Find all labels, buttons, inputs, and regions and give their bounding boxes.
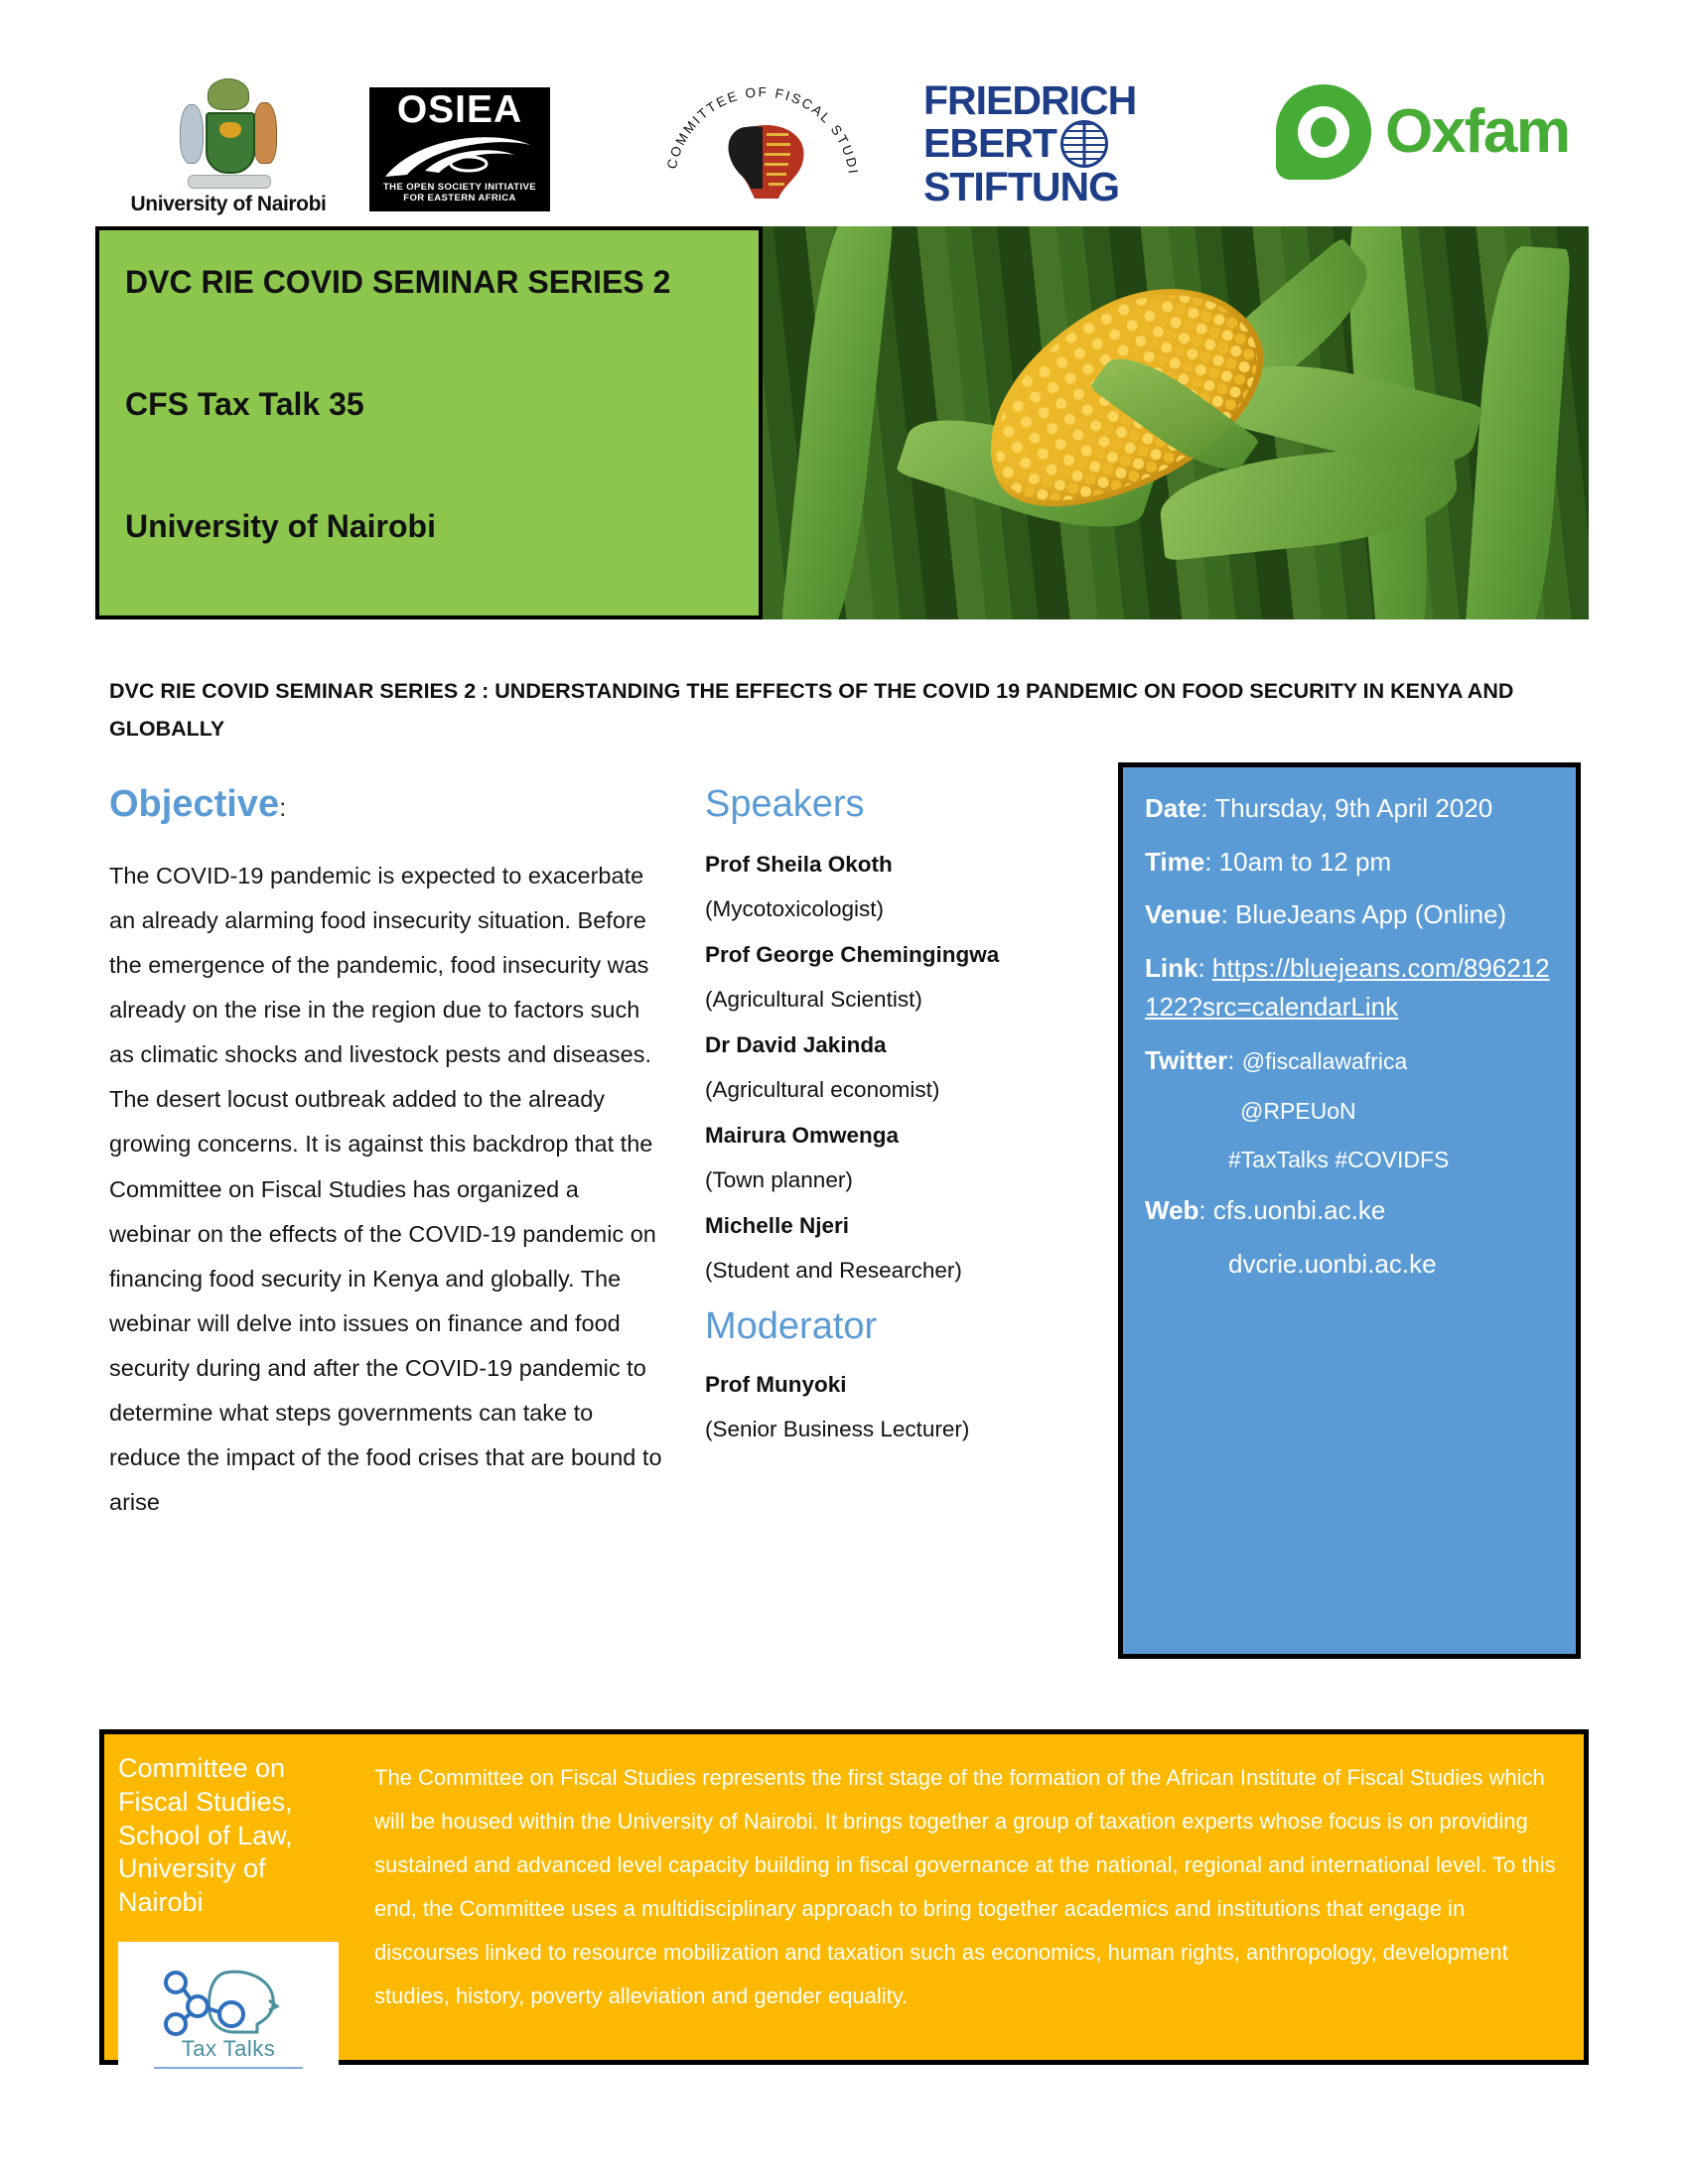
moderator-role: (Senior Business Lecturer)	[705, 1419, 1072, 1441]
fes-line-2: EBERT	[923, 124, 1056, 163]
oxfam-mark-icon	[1276, 84, 1371, 180]
event-twitter: Twitter: @fiscallawafrica	[1145, 1041, 1554, 1081]
speaker-role: (Town planner)	[705, 1169, 1072, 1192]
event-twitter-label: Twitter	[1145, 1045, 1227, 1075]
speaker-role: (Agricultural Scientist)	[705, 989, 1072, 1012]
speaker-role: (Agricultural economist)	[705, 1079, 1072, 1102]
seminar-subtitle: DVC RIE COVID SEMINAR SERIES 2 : UNDERST…	[109, 673, 1579, 748]
speaker-role: (Mycotoxicologist)	[705, 898, 1072, 921]
objective-column: Objective: The COVID-19 pandemic is expe…	[109, 784, 665, 1525]
fes-globe-icon	[1060, 120, 1108, 168]
event-web-label: Web	[1145, 1195, 1198, 1225]
hero-title-line-1: DVC RIE COVID SEMINAR SERIES 2	[125, 264, 759, 301]
committee-of-fiscal-studies-logo: COMMITTEE OF FISCAL STUDIES	[655, 71, 869, 201]
event-time-value: : 10am to 12 pm	[1204, 847, 1391, 877]
event-time-label: Time	[1145, 847, 1204, 877]
speaker-name: Prof Sheila Okoth	[705, 854, 1072, 877]
speaker-item: Dr David Jakinda (Agricultural economist…	[705, 1034, 1072, 1102]
footer-left: Committee on Fiscal Studies, School of L…	[104, 1734, 352, 2060]
osiea-acronym: OSIEA	[369, 87, 550, 129]
cfs-roundel-icon: COMMITTEE OF FISCAL STUDIES	[655, 71, 869, 201]
university-of-nairobi-logo: University of Nairobi	[109, 74, 348, 216]
speaker-item: Michelle Njeri (Student and Researcher)	[705, 1215, 1072, 1283]
uon-logo-label: University of Nairobi	[109, 193, 348, 216]
tax-talks-head-icon	[154, 1963, 303, 2038]
friedrich-ebert-stiftung-logo: FRIEDRICH EBERT STIFTUNG	[923, 81, 1221, 196]
tax-talks-logo: Tax Talks	[118, 1942, 339, 2091]
speakers-heading: Speakers	[705, 784, 1072, 826]
event-time: Time: 10am to 12 pm	[1145, 843, 1554, 883]
hero-title-box: DVC RIE COVID SEMINAR SERIES 2 CFS Tax T…	[95, 226, 763, 619]
event-date: Date: Thursday, 9th April 2020	[1145, 789, 1554, 829]
footer-org-title: Committee on Fiscal Studies, School of L…	[118, 1752, 352, 1920]
fes-line-3: STIFTUNG	[923, 168, 1221, 206]
objective-body: The COVID-19 pandemic is expected to exa…	[109, 854, 665, 1526]
moderator-name: Prof Munyoki	[705, 1374, 1072, 1397]
footer-about-box: Committee on Fiscal Studies, School of L…	[99, 1729, 1589, 2065]
hero-title-line-3: University of Nairobi	[125, 508, 759, 545]
event-web-value-2[interactable]: dvcrie.uonbi.ac.ke	[1145, 1245, 1554, 1285]
objective-heading-colon: :	[279, 792, 286, 822]
logo-strip: University of Nairobi OSIEA THE OPEN SOC…	[0, 0, 1688, 228]
oxfam-wordmark: Oxfam	[1385, 101, 1569, 163]
osiea-subtitle-line2: FOR EASTERN AFRICA	[369, 194, 550, 205]
uon-crest-icon	[174, 74, 283, 189]
osiea-logo: OSIEA THE OPEN SOCIETY INITIATIVE FOR EA…	[369, 87, 550, 211]
footer-description: The Committee on Fiscal Studies represen…	[352, 1734, 1584, 2060]
speaker-name: Mairura Omwenga	[705, 1125, 1072, 1148]
event-venue: Venue: BlueJeans App (Online)	[1145, 895, 1554, 935]
event-hashtags: #TaxTalks #COVIDFS	[1145, 1143, 1554, 1177]
moderator-item: Prof Munyoki (Senior Business Lecturer)	[705, 1374, 1072, 1441]
hero-banner: DVC RIE COVID SEMINAR SERIES 2 CFS Tax T…	[95, 226, 1589, 619]
tax-talks-rule	[154, 2067, 303, 2069]
twitter-handle-secondary[interactable]: @RPEUoN	[1145, 1094, 1554, 1129]
event-link-url[interactable]: https://bluejeans.com/896212122?src=cale…	[1145, 953, 1550, 1023]
hero-title-line-2: CFS Tax Talk 35	[125, 386, 759, 423]
speaker-name: Michelle Njeri	[705, 1215, 1072, 1238]
poster-page: University of Nairobi OSIEA THE OPEN SOC…	[0, 0, 1688, 2184]
speaker-item: Prof Sheila Okoth (Mycotoxicologist)	[705, 854, 1072, 921]
oxfam-logo: Oxfam	[1276, 74, 1604, 189]
osiea-swoosh-icon	[369, 131, 550, 183]
event-web-value-1[interactable]: cfs.uonbi.ac.ke	[1213, 1195, 1385, 1225]
event-link-label: Link	[1145, 953, 1197, 983]
speakers-column: Speakers Prof Sheila Okoth (Mycotoxicolo…	[705, 784, 1072, 1464]
event-details-box: Date: Thursday, 9th April 2020 Time: 10a…	[1118, 762, 1581, 1659]
event-date-value: : Thursday, 9th April 2020	[1200, 793, 1492, 823]
event-date-label: Date	[1145, 793, 1200, 823]
event-web: Web: cfs.uonbi.ac.ke	[1145, 1191, 1554, 1231]
speaker-name: Prof George Chemingingwa	[705, 944, 1072, 967]
speaker-name: Dr David Jakinda	[705, 1034, 1072, 1057]
event-link[interactable]: Link: https://bluejeans.com/896212122?sr…	[1145, 949, 1554, 1027]
fes-line-1: FRIEDRICH	[923, 81, 1221, 120]
maize-photo	[763, 226, 1589, 619]
tax-talks-wordmark: Tax Talks	[182, 2036, 276, 2062]
event-venue-value: : BlueJeans App (Online)	[1221, 899, 1507, 929]
speaker-role: (Student and Researcher)	[705, 1260, 1072, 1283]
twitter-handle-primary[interactable]: @fiscallawafrica	[1242, 1048, 1408, 1074]
event-venue-label: Venue	[1145, 899, 1221, 929]
moderator-heading: Moderator	[705, 1306, 1072, 1348]
speaker-item: Prof George Chemingingwa (Agricultural S…	[705, 944, 1072, 1012]
objective-heading-text: Objective	[109, 783, 279, 825]
objective-heading: Objective:	[109, 784, 665, 826]
speaker-item: Mairura Omwenga (Town planner)	[705, 1125, 1072, 1192]
